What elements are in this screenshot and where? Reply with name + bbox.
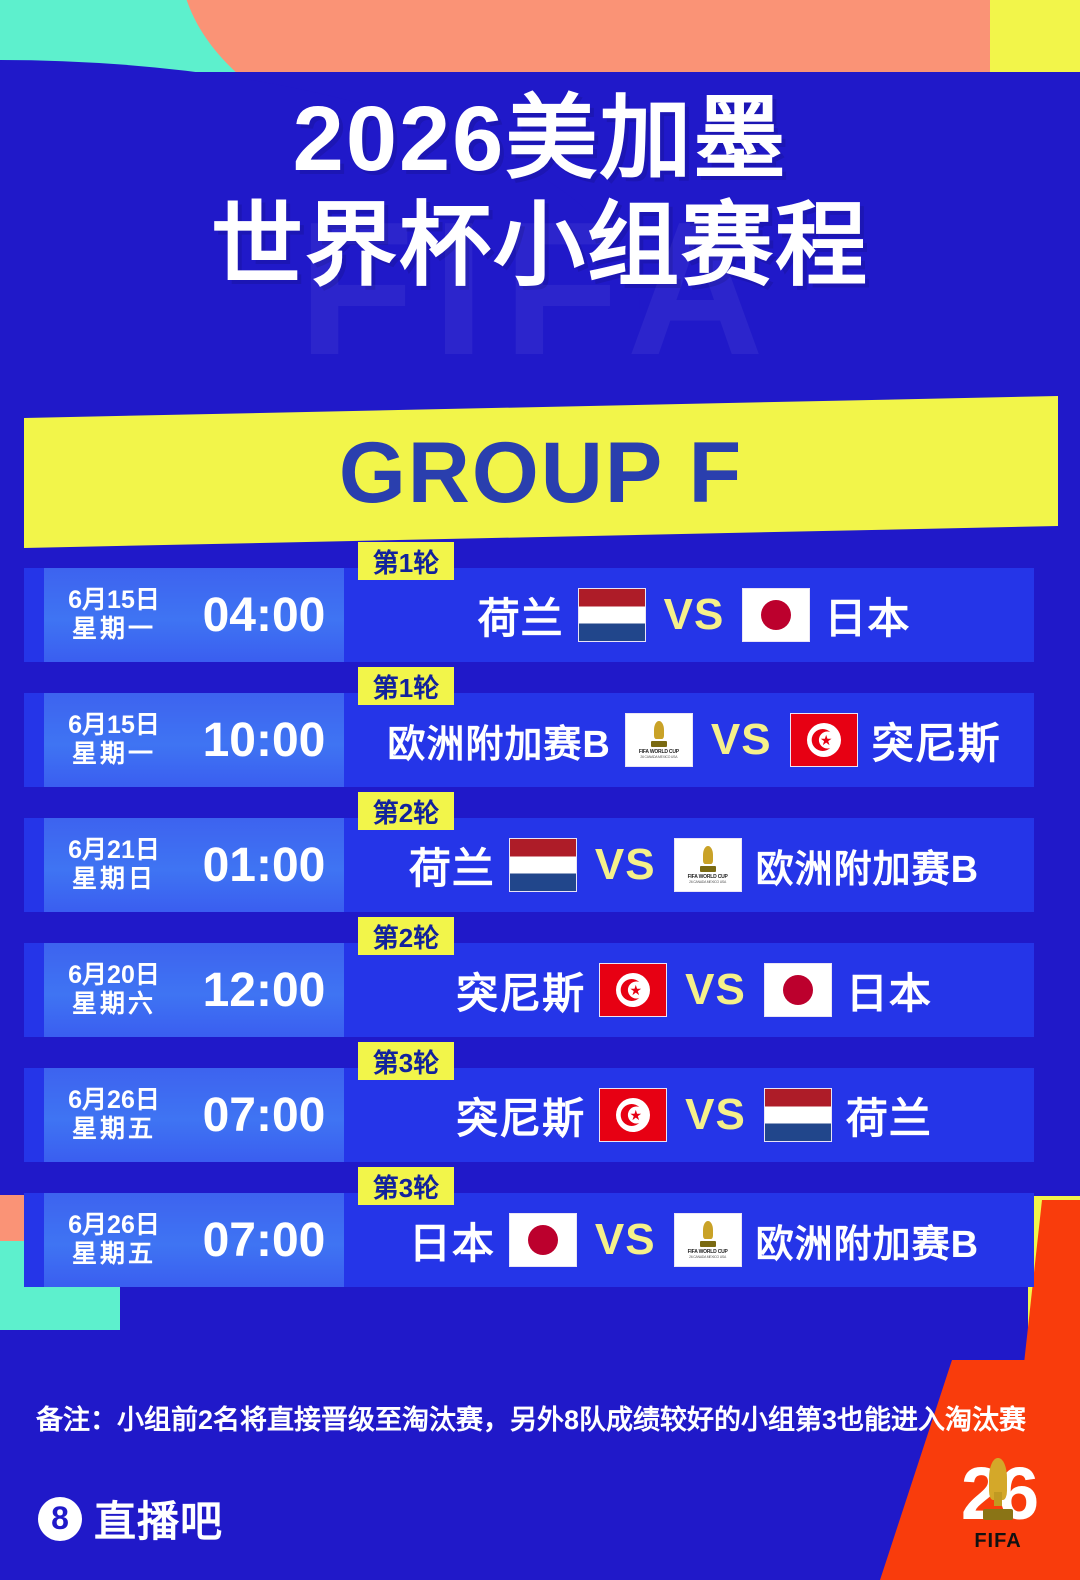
match-datetime-block: 6月15日 星期一 10:00 xyxy=(44,693,344,787)
vs-label: VS xyxy=(591,840,660,890)
fifa-2026-logo: 26 FIFA xyxy=(952,1448,1044,1560)
tunisia-flag: ★ xyxy=(599,963,667,1017)
table-row: 6月26日 星期五 07:00 第3轮 日本 VS FIFA WORLD CUP… xyxy=(24,1181,1034,1298)
match-teams: 突尼斯 ★ VS 荷兰 xyxy=(354,1068,1034,1162)
home-team-name: 荷兰 xyxy=(409,835,495,896)
table-row: 6月15日 星期一 04:00 第1轮 荷兰 VS 日本 xyxy=(24,556,1034,673)
page-title: 2026美加墨 世界杯小组赛程 xyxy=(0,86,1080,299)
vs-label: VS xyxy=(660,590,729,640)
page-title-line1: 2026美加墨 xyxy=(0,86,1080,193)
away-team-name: 突尼斯 xyxy=(872,710,1001,771)
match-teams: 荷兰 VS 日本 xyxy=(354,568,1034,662)
japan-flag xyxy=(742,588,810,642)
match-date: 6月15日 xyxy=(68,586,160,614)
match-weekday: 星期一 xyxy=(44,615,184,645)
round-badge: 第3轮 xyxy=(358,1042,454,1080)
match-datetime-block: 6月15日 星期一 04:00 xyxy=(44,568,344,662)
match-teams: 日本 VS FIFA WORLD CUP26 CANADA MEXICO USA… xyxy=(354,1193,1034,1287)
match-time: 01:00 xyxy=(184,838,344,893)
match-date: 6月21日 xyxy=(68,836,160,864)
tunisia-flag: ★ xyxy=(599,1088,667,1142)
table-row: 6月21日 星期日 01:00 第2轮 荷兰 VS FIFA WORLD CUP… xyxy=(24,806,1034,923)
match-datetime-block: 6月21日 星期日 01:00 xyxy=(44,818,344,912)
group-label: GROUP F xyxy=(24,424,1058,523)
world-cup-trophy-icon xyxy=(983,1458,1013,1520)
page-title-line2: 世界杯小组赛程 xyxy=(0,193,1080,300)
vs-label: VS xyxy=(681,965,750,1015)
match-weekday: 星期日 xyxy=(44,865,184,895)
vs-label: VS xyxy=(707,715,776,765)
home-team-name: 荷兰 xyxy=(478,585,564,646)
match-date: 6月15日 xyxy=(68,711,160,739)
world-cup-trophy-flag: FIFA WORLD CUP26 CANADA MEXICO USA xyxy=(674,1213,742,1267)
match-date-label: 6月15日 星期一 xyxy=(44,711,184,770)
match-date-label: 6月20日 星期六 xyxy=(44,961,184,1020)
brand-name: 直播吧 xyxy=(94,1488,223,1549)
match-date-label: 6月26日 星期五 xyxy=(44,1211,184,1270)
match-weekday: 星期五 xyxy=(44,1240,184,1270)
japan-flag xyxy=(764,963,832,1017)
brand-logo: 8 直播吧 xyxy=(38,1488,223,1549)
table-row: 6月15日 星期一 10:00 第1轮 欧洲附加赛B FIFA WORLD CU… xyxy=(24,681,1034,798)
away-team-name: 日本 xyxy=(846,960,932,1021)
vs-label: VS xyxy=(591,1215,660,1265)
fifa-logo-text: FIFA xyxy=(952,1530,1044,1553)
match-datetime-block: 6月20日 星期六 12:00 xyxy=(44,943,344,1037)
match-date-label: 6月21日 星期日 xyxy=(44,836,184,895)
world-cup-trophy-flag: FIFA WORLD CUP26 CANADA MEXICO USA xyxy=(625,713,693,767)
away-team-name: 欧洲附加赛B xyxy=(756,838,979,893)
match-datetime-block: 6月26日 星期五 07:00 xyxy=(44,1068,344,1162)
away-team-name: 日本 xyxy=(824,585,910,646)
round-badge: 第1轮 xyxy=(358,542,454,580)
match-time: 12:00 xyxy=(184,963,344,1018)
home-team-name: 日本 xyxy=(409,1210,495,1271)
table-row: 6月20日 星期六 12:00 第2轮 突尼斯 ★ VS 日本 xyxy=(24,931,1034,1048)
japan-flag xyxy=(509,1213,577,1267)
vs-label: VS xyxy=(681,1090,750,1140)
match-time: 07:00 xyxy=(184,1213,344,1268)
brand-mark-icon: 8 xyxy=(38,1497,82,1541)
home-team-name: 突尼斯 xyxy=(456,1085,585,1146)
decor-yellow-block xyxy=(990,0,1080,72)
match-date-label: 6月26日 星期五 xyxy=(44,1086,184,1145)
away-team-name: 荷兰 xyxy=(846,1085,932,1146)
match-weekday: 星期六 xyxy=(44,990,184,1020)
match-time: 04:00 xyxy=(184,588,344,643)
netherlands-flag xyxy=(509,838,577,892)
match-weekday: 星期五 xyxy=(44,1115,184,1145)
match-schedule-table: 6月15日 星期一 04:00 第1轮 荷兰 VS 日本 6月15日 星期一 xyxy=(24,556,1034,1306)
match-teams: 荷兰 VS FIFA WORLD CUP26 CANADA MEXICO USA… xyxy=(354,818,1034,912)
match-date: 6月20日 xyxy=(68,961,160,989)
round-badge: 第3轮 xyxy=(358,1167,454,1205)
match-time: 07:00 xyxy=(184,1088,344,1143)
match-time: 10:00 xyxy=(184,713,344,768)
match-teams: 欧洲附加赛B FIFA WORLD CUP26 CANADA MEXICO US… xyxy=(354,693,1034,787)
netherlands-flag xyxy=(764,1088,832,1142)
match-date-label: 6月15日 星期一 xyxy=(44,586,184,645)
round-badge: 第1轮 xyxy=(358,667,454,705)
round-badge: 第2轮 xyxy=(358,792,454,830)
match-teams: 突尼斯 ★ VS 日本 xyxy=(354,943,1034,1037)
tunisia-flag: ★ xyxy=(790,713,858,767)
table-row: 6月26日 星期五 07:00 第3轮 突尼斯 ★ VS 荷兰 xyxy=(24,1056,1034,1173)
match-weekday: 星期一 xyxy=(44,740,184,770)
home-team-name: 突尼斯 xyxy=(456,960,585,1021)
poster-root: FIFA 2026美加墨 世界杯小组赛程 GROUP F 6月15日 星期一 0… xyxy=(0,0,1080,1580)
footnote-text: 备注：小组前2名将直接晋级至淘汰赛，另外8队成绩较好的小组第3也能进入淘汰赛 xyxy=(36,1398,1046,1437)
netherlands-flag xyxy=(578,588,646,642)
round-badge: 第2轮 xyxy=(358,917,454,955)
group-banner: GROUP F xyxy=(24,396,1058,548)
world-cup-trophy-flag: FIFA WORLD CUP26 CANADA MEXICO USA xyxy=(674,838,742,892)
match-date: 6月26日 xyxy=(68,1086,160,1114)
away-team-name: 欧洲附加赛B xyxy=(756,1213,979,1268)
decor-salmon-block xyxy=(830,0,990,72)
match-date: 6月26日 xyxy=(68,1211,160,1239)
match-datetime-block: 6月26日 星期五 07:00 xyxy=(44,1193,344,1287)
home-team-name: 欧洲附加赛B xyxy=(387,713,610,768)
